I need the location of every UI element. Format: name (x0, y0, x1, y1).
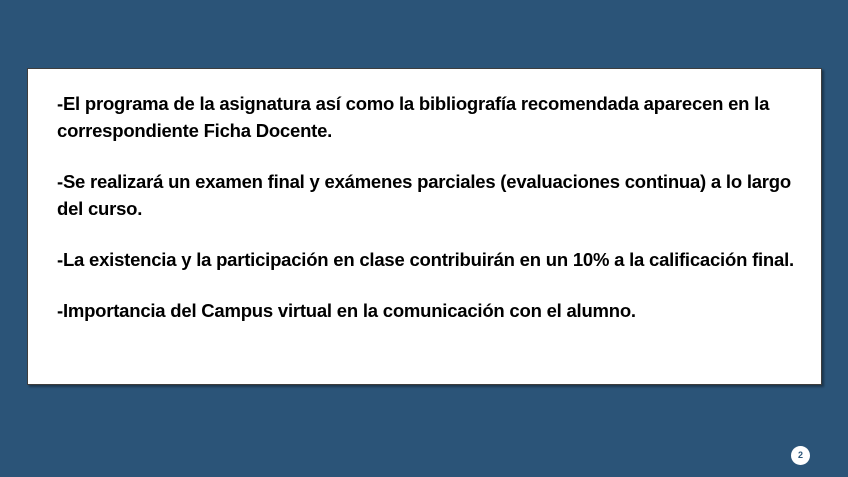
page-number-badge: 2 (791, 446, 810, 465)
bullet-paragraph-1: -El programa de la asignatura así como l… (57, 90, 809, 144)
slide-content-box: -El programa de la asignatura así como l… (27, 68, 822, 385)
presentation-slide: -El programa de la asignatura así como l… (0, 0, 848, 477)
page-number-label: 2 (798, 451, 803, 460)
bullet-paragraph-2: -Se realizará un examen final y exámenes… (57, 168, 809, 222)
slide-body-text: -El programa de la asignatura así como l… (57, 90, 809, 324)
bullet-paragraph-3: -La existencia y la participación en cla… (57, 246, 809, 273)
bullet-paragraph-4: -Importancia del Campus virtual en la co… (57, 297, 809, 324)
